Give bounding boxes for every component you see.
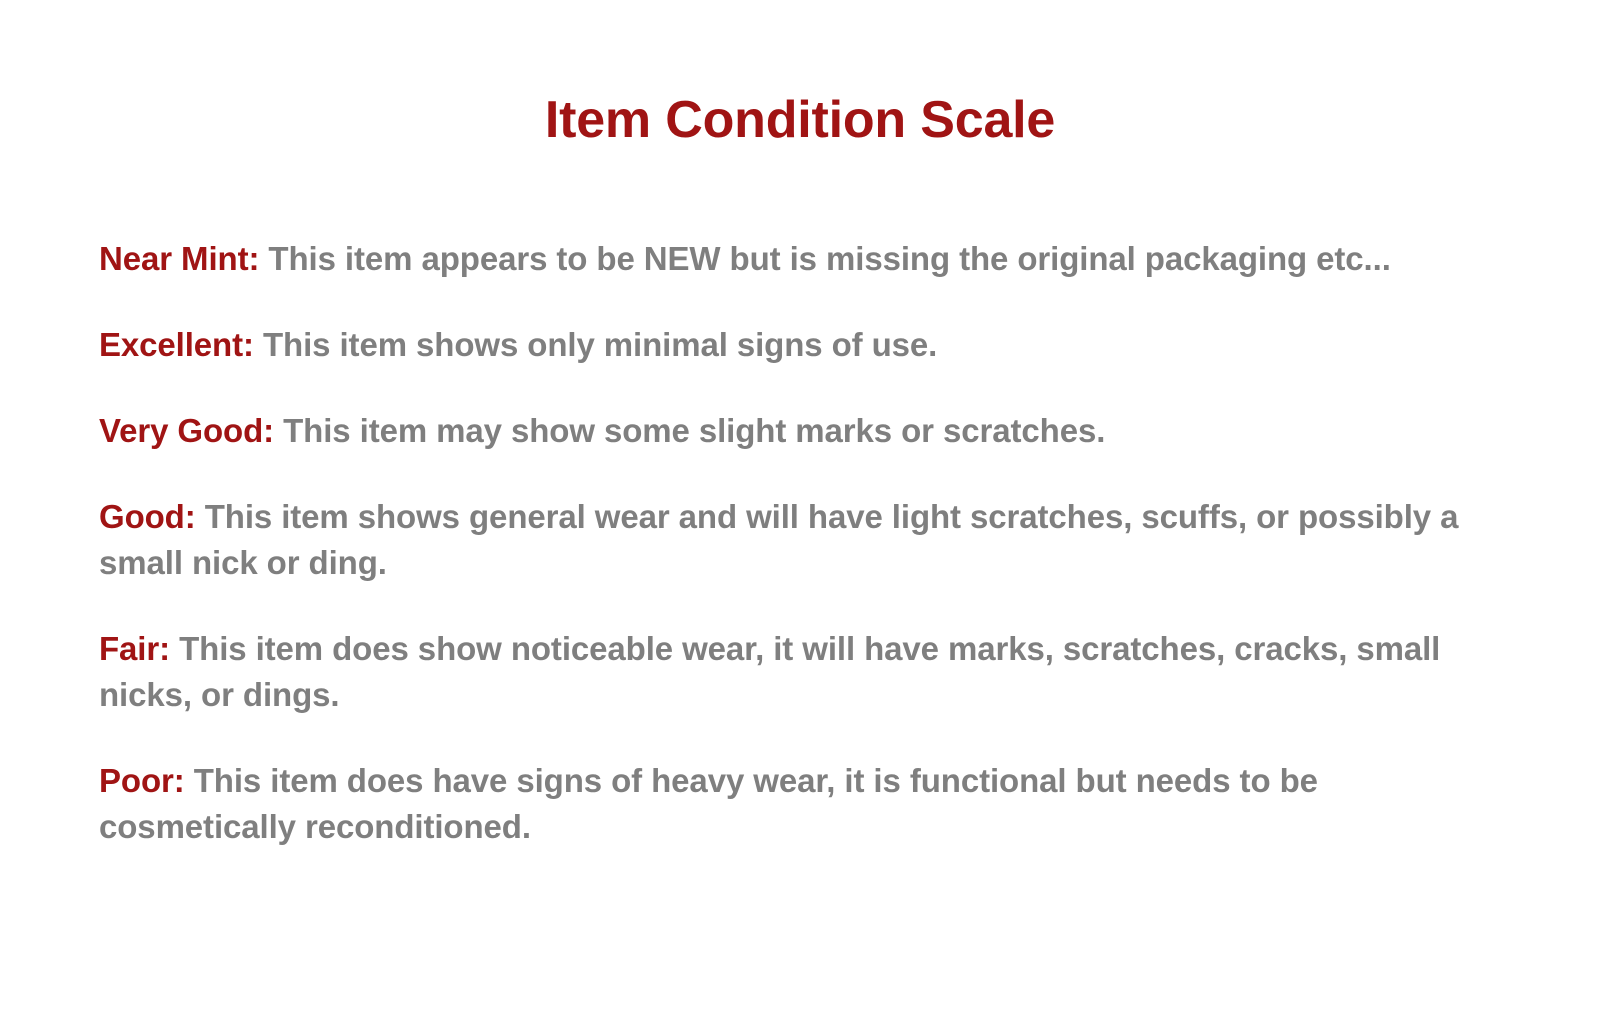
- condition-label-poor: Poor:: [99, 762, 185, 799]
- list-item: Very Good: This item may show some sligh…: [99, 408, 1511, 454]
- list-item: Near Mint: This item appears to be NEW b…: [99, 236, 1511, 282]
- condition-description-poor: This item does have signs of heavy wear,…: [99, 762, 1318, 845]
- page-title: Item Condition Scale: [0, 91, 1600, 149]
- condition-scale-slide: Item Condition Scale Near Mint: This ite…: [0, 0, 1600, 1011]
- list-item: Good: This item shows general wear and w…: [99, 494, 1511, 586]
- list-item: Poor: This item does have signs of heavy…: [99, 758, 1511, 850]
- condition-label-fair: Fair:: [99, 630, 170, 667]
- list-item: Excellent: This item shows only minimal …: [99, 322, 1511, 368]
- condition-description-very-good: This item may show some slight marks or …: [283, 412, 1105, 449]
- condition-description-fair: This item does show noticeable wear, it …: [99, 630, 1440, 713]
- condition-description-excellent: This item shows only minimal signs of us…: [263, 326, 937, 363]
- list-item: Fair: This item does show noticeable wea…: [99, 626, 1511, 718]
- condition-description-good: This item shows general wear and will ha…: [99, 498, 1458, 581]
- condition-label-excellent: Excellent:: [99, 326, 254, 363]
- condition-label-good: Good:: [99, 498, 196, 535]
- condition-list: Near Mint: This item appears to be NEW b…: [99, 236, 1511, 850]
- condition-label-very-good: Very Good:: [99, 412, 274, 449]
- condition-label-near-mint: Near Mint:: [99, 240, 259, 277]
- condition-description-near-mint: This item appears to be NEW but is missi…: [268, 240, 1390, 277]
